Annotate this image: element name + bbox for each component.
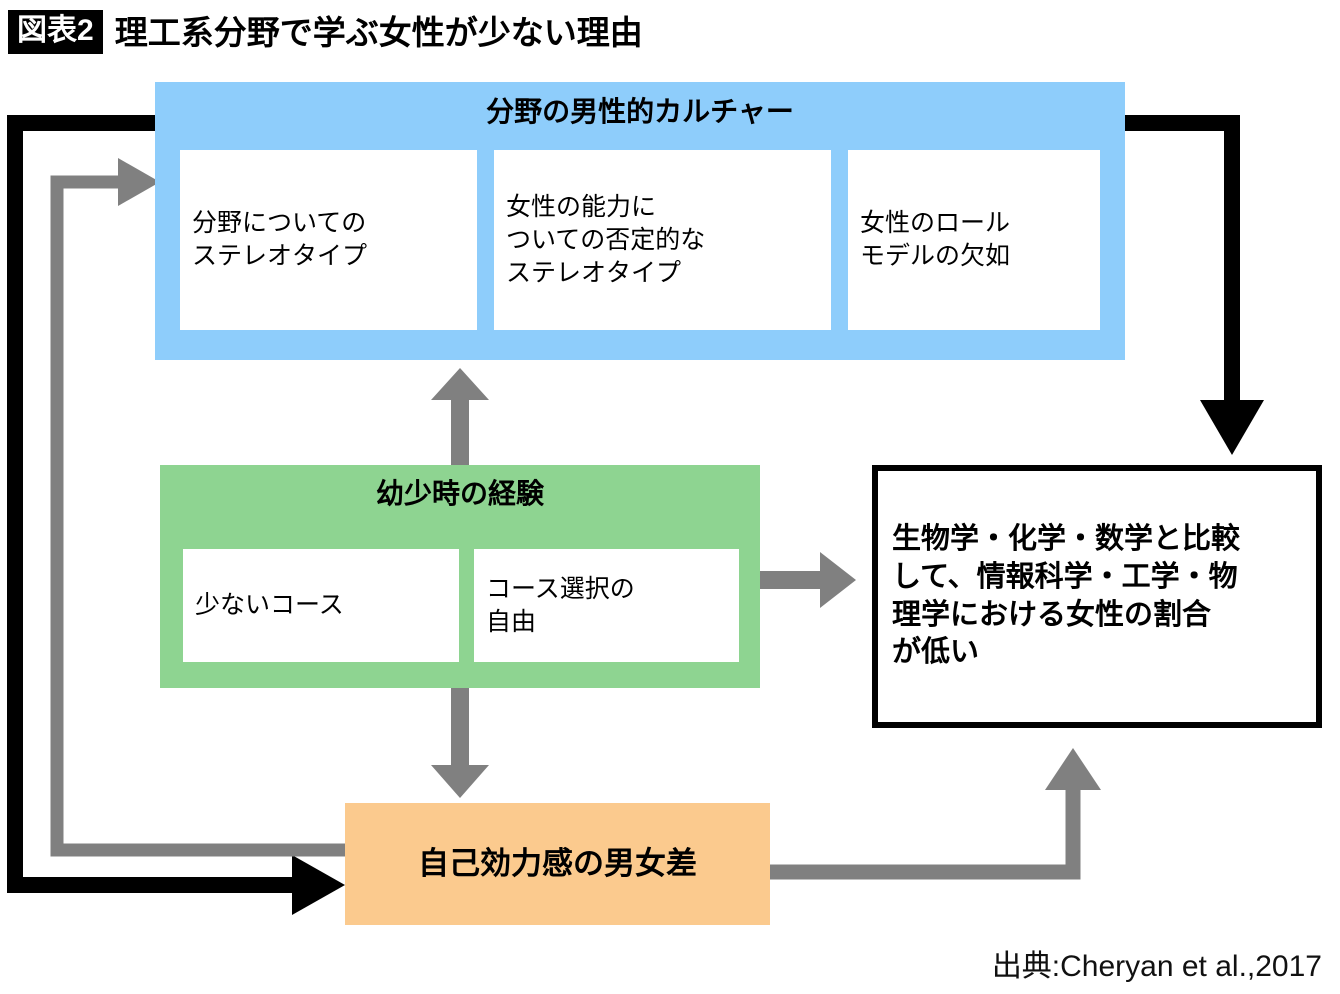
figure-header: 図表2 理工系分野で学ぶ女性が少ない理由 — [8, 8, 643, 56]
edge-childhood-to-outcome — [760, 552, 856, 608]
culture-item-stereotype-field[interactable]: 分野についての ステレオタイプ — [180, 150, 477, 330]
node-culture-items: 分野についての ステレオタイプ 女性の能力に ついての否定的な ステレオタイプ … — [180, 150, 1100, 330]
culture-item-negative-stereotype-women[interactable]: 女性の能力に ついての否定的な ステレオタイプ — [494, 150, 831, 330]
edge-childhood-to-culture — [431, 368, 489, 465]
node-efficacy[interactable]: 自己効力感の男女差 — [345, 803, 770, 925]
edge-childhood-to-efficacy — [431, 688, 489, 798]
edge-efficacy-to-outcome — [770, 748, 1101, 872]
node-culture[interactable]: 分野の男性的カルチャー 分野についての ステレオタイプ 女性の能力に ついての否… — [155, 82, 1125, 360]
node-efficacy-title: 自己効力感の男女差 — [418, 847, 697, 881]
figure-number-badge: 図表2 — [8, 10, 103, 54]
source-note: 出典:Cheryan et al.,2017 — [992, 952, 1322, 982]
childhood-item-few-courses[interactable]: 少ないコース — [183, 549, 459, 662]
figure-canvas: 図表2 理工系分野で学ぶ女性が少ない理由 — [0, 0, 1340, 994]
node-outcome[interactable]: 生物学・化学・数学と比較 して、情報科学・工学・物 理学における女性の割合 が低… — [872, 465, 1322, 728]
node-childhood-items: 少ないコース コース選択の 自由 — [183, 549, 739, 662]
culture-item-lack-of-role-models[interactable]: 女性のロール モデルの欠如 — [848, 150, 1100, 330]
node-childhood-title: 幼少時の経験 — [160, 478, 760, 510]
node-culture-title: 分野の男性的カルチャー — [155, 96, 1125, 128]
figure-title: 理工系分野で学ぶ女性が少ない理由 — [115, 16, 643, 49]
node-childhood[interactable]: 幼少時の経験 少ないコース コース選択の 自由 — [160, 465, 760, 688]
node-outcome-title: 生物学・化学・数学と比較 して、情報科学・工学・物 理学における女性の割合 が低… — [878, 521, 1254, 672]
edge-culture-to-outcome — [1125, 123, 1264, 455]
childhood-item-course-choice-freedom[interactable]: コース選択の 自由 — [474, 549, 739, 662]
